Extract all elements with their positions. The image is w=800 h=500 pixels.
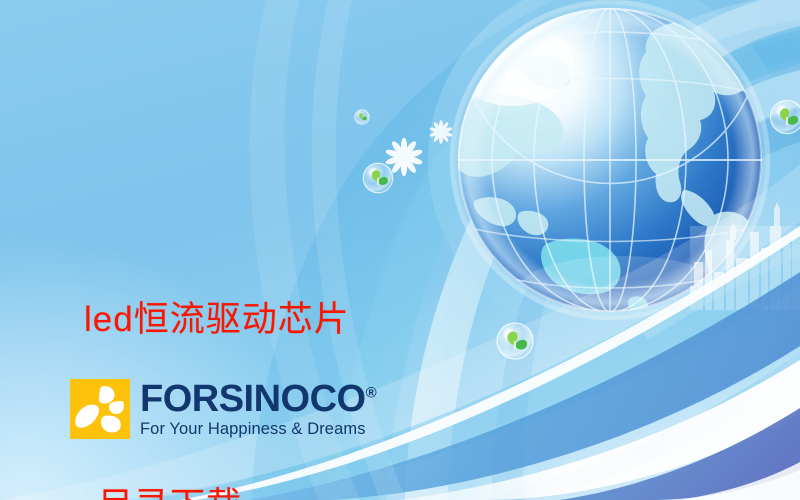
brand-logo: FORSINOCO® For Your Happiness & Dreams <box>70 379 376 439</box>
pinwheel-glyph <box>70 379 130 439</box>
brand-name: FORSINOCO® <box>140 380 376 418</box>
registered-trademark-icon: ® <box>366 385 377 402</box>
brand-name-text: FORSINOCO <box>140 378 366 420</box>
headline-line-1: led恒流驱动芯片 <box>84 289 504 351</box>
headline-text: led恒流驱动芯片 目录下载 <box>84 165 504 500</box>
brand-tagline: For Your Happiness & Dreams <box>140 421 366 438</box>
headline-line-2: 目录下载 <box>84 475 504 500</box>
promo-banner: led恒流驱动芯片 目录下载 FORSINOCO® <box>0 0 800 500</box>
four-petal-pinwheel-icon <box>70 379 130 439</box>
bubble-leaf-icon <box>770 100 800 133</box>
brand-wordmark: FORSINOCO® For Your Happiness & Dreams <box>140 380 376 438</box>
bubble-leaf-icon <box>355 110 369 124</box>
